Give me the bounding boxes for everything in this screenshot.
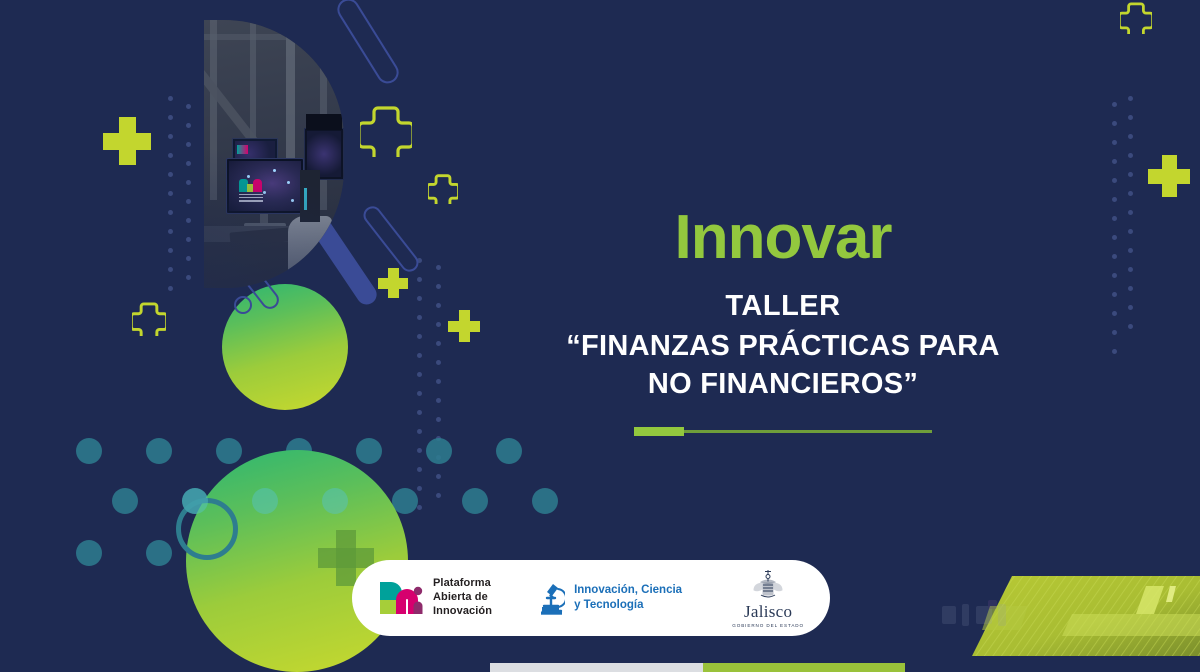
ict-line-1: Innovación, Ciencia xyxy=(574,583,682,598)
hero-photo xyxy=(204,20,344,288)
dot-column-right-b xyxy=(1128,96,1133,343)
lime-cross-outline-topright xyxy=(1120,2,1152,34)
title-divider xyxy=(634,426,932,438)
pai-logo-text: Plataforma Abierta de Innovación xyxy=(433,577,492,619)
gradient-circle-large xyxy=(186,450,408,672)
progress-fill xyxy=(703,663,905,672)
dot-column-left-a xyxy=(168,96,173,305)
logo-ict: Innovación, Ciencia y Tecnología xyxy=(539,581,682,615)
pai-line-3: Innovación xyxy=(433,605,492,619)
pai-line-1: Plataforma xyxy=(433,577,492,591)
hero-text-block: Innovar TALLER “FINANZAS PRÁCTICAS PARA … xyxy=(548,205,1018,438)
jalisco-crest-icon xyxy=(750,569,786,601)
dot-column-mid-b xyxy=(436,265,441,512)
subtitle-line-3: NO FINANCIEROS” xyxy=(548,365,1018,403)
lime-cross-outline-a xyxy=(360,105,412,157)
ict-line-2: y Tecnología xyxy=(574,598,682,613)
slide-canvas: Innovar TALLER “FINANZAS PRÁCTICAS PARA … xyxy=(0,0,1200,672)
partner-logo-bar: Plataforma Abierta de Innovación xyxy=(352,560,830,636)
lime-cross-solid-left xyxy=(103,117,151,165)
jalisco-subtitle: GOBIERNO DEL ESTADO xyxy=(732,623,804,628)
lime-cross-solid-mid-b xyxy=(448,310,480,342)
logo-pai: Plataforma Abierta de Innovación xyxy=(378,577,492,619)
ict-logo-text: Innovación, Ciencia y Tecnología xyxy=(574,583,682,613)
lime-cross-outline-b xyxy=(428,174,458,204)
lime-cross-solid-right xyxy=(1148,155,1190,197)
logo-jalisco: Jalisco GOBIERNO DEL ESTADO xyxy=(732,569,804,628)
lime-cross-solid-mid-a xyxy=(378,268,408,298)
diagonal-bar-outline-a xyxy=(360,203,422,276)
page-title: Innovar xyxy=(548,205,1018,270)
divider-thick-segment xyxy=(634,427,684,436)
progress-track xyxy=(490,663,703,672)
teal-ring-outline xyxy=(176,498,238,560)
bottom-progress-bar[interactable] xyxy=(490,663,905,672)
subtitle-line-2: “FINANZAS PRÁCTICAS PARA xyxy=(548,327,1018,365)
jalisco-name: Jalisco xyxy=(744,602,792,622)
lime-cross-outline-c xyxy=(132,302,166,336)
teal-ring-outline-small xyxy=(234,296,252,314)
dot-column-right-a xyxy=(1112,102,1117,368)
dot-column-mid-a xyxy=(417,258,422,524)
watermark-glyphs xyxy=(940,598,1050,632)
subtitle-line-1: TALLER xyxy=(548,290,1018,323)
gradient-circle-small xyxy=(222,284,348,410)
pai-logo-icon xyxy=(378,578,424,618)
pai-line-2: Abierta de xyxy=(433,591,492,605)
dot-column-left-b xyxy=(186,104,191,294)
divider-thin-segment xyxy=(684,430,932,433)
microscope-icon xyxy=(539,581,565,615)
